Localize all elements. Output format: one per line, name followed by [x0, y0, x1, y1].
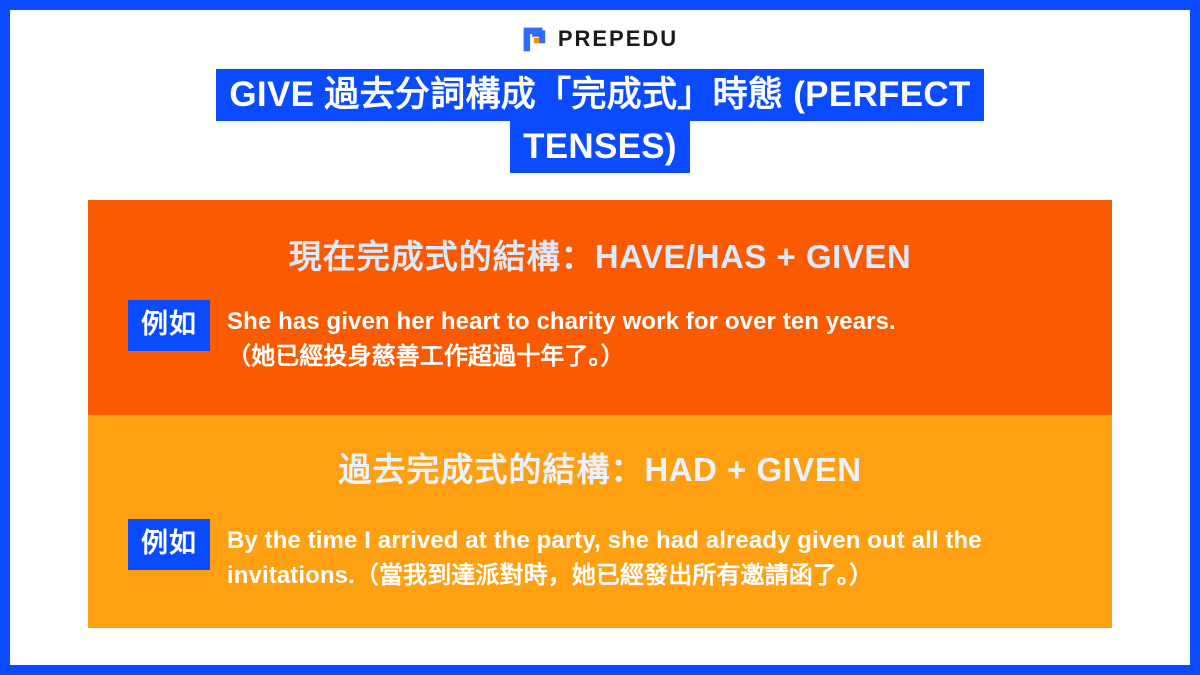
- section-present-perfect: 現在完成式的結構：HAVE/HAS + GIVEN 例如 She has giv…: [88, 200, 1112, 415]
- page-title: GIVE 過去分詞構成「完成式」時態 (PERFECT TENSES): [10, 69, 1190, 173]
- past-perfect-example-text: By the time I arrived at the party, she …: [227, 519, 1072, 593]
- page-title-line-1-text: GIVE 過去分詞構成「完成式」時態 (PERFECT: [216, 69, 983, 121]
- past-perfect-structure-cn: 過去完成式的結構：: [338, 451, 644, 488]
- slide-frame: PREPEDU GIVE 過去分詞構成「完成式」時態 (PERFECT TENS…: [0, 0, 1200, 675]
- present-perfect-example-badge: 例如: [128, 300, 210, 351]
- page-title-line-2: TENSES): [10, 121, 1190, 173]
- past-perfect-example-row: 例如 By the time I arrived at the party, s…: [88, 519, 1112, 593]
- slide-canvas: PREPEDU GIVE 過去分詞構成「完成式」時態 (PERFECT TENS…: [10, 10, 1190, 665]
- page-title-line-2-text: TENSES): [510, 121, 690, 173]
- present-perfect-example-row: 例如 She has given her heart to charity wo…: [88, 300, 1112, 374]
- present-perfect-structure-cn: 現在完成式的結構：: [289, 238, 595, 275]
- past-perfect-structure: 過去完成式的結構：HAD + GIVEN: [88, 415, 1112, 491]
- prepedu-logo-icon: [522, 26, 549, 53]
- present-perfect-structure: 現在完成式的結構：HAVE/HAS + GIVEN: [88, 200, 1112, 278]
- brand-header: PREPEDU: [10, 24, 1190, 54]
- content-block: PREPEDU 現在完成式的結構：HAVE/HAS + GIVEN 例如 She…: [88, 200, 1112, 628]
- past-perfect-structure-en: HAD + GIVEN: [644, 451, 861, 488]
- past-perfect-example-zh: （當我到達派對時，她已經發出所有邀請函了。）: [355, 562, 873, 589]
- present-perfect-example-zh: （她已經投身慈善工作超過十年了。）: [227, 343, 625, 370]
- page-title-line-1: GIVE 過去分詞構成「完成式」時態 (PERFECT: [10, 69, 1190, 121]
- present-perfect-structure-en: HAVE/HAS + GIVEN: [595, 238, 911, 275]
- present-perfect-example-text: She has given her heart to charity work …: [227, 300, 1072, 374]
- present-perfect-example-en: She has given her heart to charity work …: [227, 308, 896, 335]
- section-past-perfect: 過去完成式的結構：HAD + GIVEN 例如 By the time I ar…: [88, 415, 1112, 628]
- brand-name: PREPEDU: [558, 28, 678, 50]
- past-perfect-example-badge: 例如: [128, 519, 210, 570]
